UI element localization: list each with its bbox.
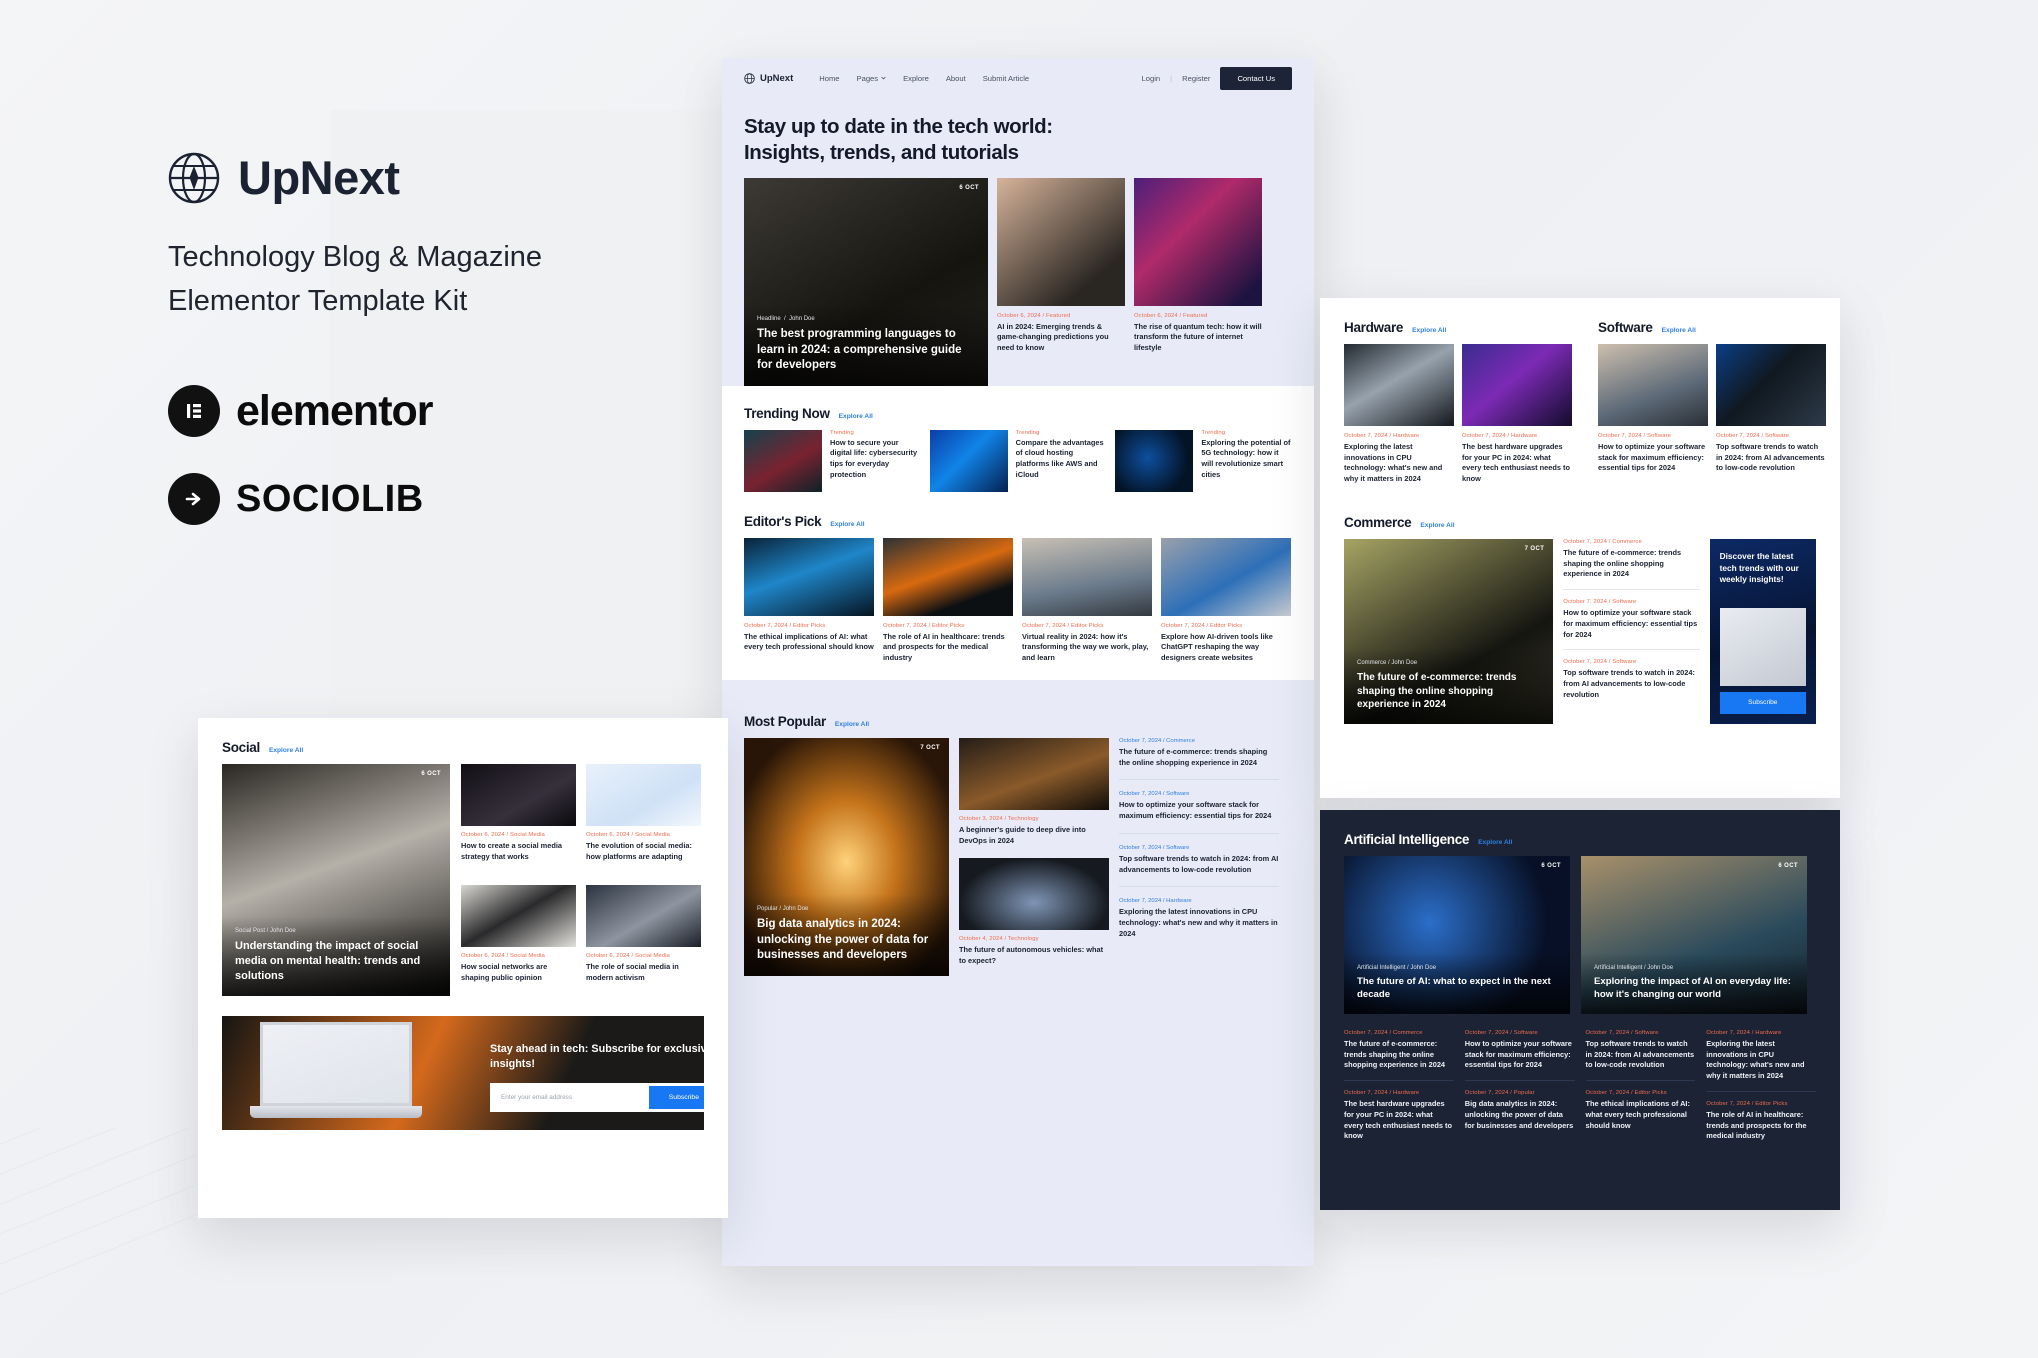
brand-logo-row: UpNext [168, 150, 688, 205]
article-meta: October 6, 2024 / Social Media [586, 953, 701, 959]
contact-us-button[interactable]: Contact Us [1220, 67, 1292, 90]
ai-list-column: October 7, 2024 / Software How to optimi… [1465, 1030, 1575, 1160]
ai-feature-card[interactable]: 6 OCT Artificial Intelligent / John Doe … [1344, 856, 1570, 1014]
site-navbar: UpNext Home Pages Explore About Submit A… [722, 58, 1314, 98]
article-category: Software [1634, 1030, 1658, 1036]
article-thumbnail [1716, 344, 1826, 426]
navbar-actions: Login | Register Contact Us [1142, 67, 1292, 90]
commerce-list: October 7, 2024 / Commerce The future of… [1563, 539, 1699, 724]
elementor-wordmark: elementor [236, 387, 433, 436]
newsletter-email-input[interactable]: Enter your email address [493, 1086, 649, 1109]
article-date: October 6, 2024 [461, 953, 505, 959]
feature-author: John Doe [1647, 965, 1673, 971]
nav-item-about[interactable]: About [946, 74, 966, 83]
article-meta: October 7, 2024 / Hardware [1119, 898, 1279, 904]
list-item[interactable]: October 7, 2024 / Commerce The future of… [1344, 1030, 1454, 1081]
article-date: October 7, 2024 [1119, 898, 1161, 904]
article-meta: October 7, 2024 / Software [1563, 659, 1699, 665]
hero-category: Headline [757, 316, 781, 322]
article-thumbnail [883, 538, 1013, 616]
feature-overlay: Social Post / John Doe Understanding the… [222, 916, 450, 996]
software-title: Software [1598, 320, 1653, 335]
navbar-logo-text: UpNext [760, 73, 793, 84]
article-date: October 6, 2024 [586, 953, 630, 959]
article-title: How to optimize your software stack for … [1598, 442, 1708, 474]
article-card[interactable]: October 7, 2024 / Hardware Exploring the… [1344, 344, 1454, 485]
article-meta: October 7, 2024 / Commerce [1119, 738, 1279, 744]
article-category: Software [1166, 791, 1189, 797]
article-meta: October 7, 2024 / Software [1716, 433, 1826, 439]
brand-name: UpNext [238, 150, 400, 205]
article-date: October 7, 2024 [1563, 659, 1607, 665]
editors-pick-item[interactable]: October 7, 2024 / Editor Picks The role … [883, 538, 1013, 664]
list-item[interactable]: October 4, 2024 / Technology The future … [959, 858, 1109, 966]
article-title: The best hardware upgrades for your PC i… [1344, 1099, 1454, 1142]
hero-featured-card[interactable]: 6 OCT Headline / John Doe The best progr… [744, 178, 988, 386]
commerce-explore-all[interactable]: Explore All [1420, 522, 1454, 529]
article-category: Popular [1514, 1090, 1535, 1096]
article-meta: October 6, 2024 / Featured [997, 313, 1125, 319]
article-thumbnail [959, 738, 1109, 810]
article-category: Hardware [1166, 898, 1192, 904]
list-item[interactable]: October 3, 2024 / Technology A beginner'… [959, 738, 1109, 846]
artificial-intelligence-panel: Artificial Intelligence Explore All 6 OC… [1320, 810, 1840, 1210]
list-item[interactable]: October 7, 2024 / Commerce The future of… [1563, 539, 1699, 590]
article-date: October 7, 2024 [1563, 539, 1607, 545]
article-thumbnail [586, 885, 701, 947]
list-item[interactable]: October 7, 2024 / Popular Big data analy… [1465, 1090, 1575, 1140]
hero-card-grid: 6 OCT Headline / John Doe The best progr… [722, 178, 1314, 386]
article-category: Hardware [1755, 1030, 1781, 1036]
newsletter-form: Enter your email address Subscribe [490, 1083, 704, 1112]
newsletter-content: Stay ahead in tech: Subscribe for exclus… [490, 1042, 704, 1112]
trending-item[interactable]: Trending Exploring the potential of 5G t… [1115, 430, 1292, 492]
article-date: October 7, 2024 [1344, 1030, 1388, 1036]
article-title: How to create a social media strategy th… [461, 841, 576, 862]
hero-side-card[interactable]: October 6, 2024 / Featured AI in 2024: E… [997, 178, 1125, 386]
navbar-links: Home Pages Explore About Submit Article [819, 74, 1029, 83]
article-category: Commerce [1612, 539, 1642, 545]
feature-author: John Doe [783, 906, 809, 912]
elementor-logo: elementor [168, 385, 688, 437]
article-category: Commerce [1393, 1030, 1423, 1036]
article-category: Featured [1046, 313, 1070, 319]
article-category: Software [1166, 845, 1189, 851]
software-section-header: Software Explore All [1598, 320, 1826, 335]
most-popular-right-column: October 7, 2024 / Commerce The future of… [1119, 738, 1279, 979]
chevron-down-icon [881, 76, 886, 80]
feature-date-tag: 7 OCT [1525, 546, 1545, 552]
article-meta: October 4, 2024 / Technology [959, 936, 1109, 942]
article-date: October 7, 2024 [1465, 1030, 1509, 1036]
article-title: Top software trends to watch in 2024: fr… [1586, 1039, 1696, 1071]
list-item[interactable]: October 7, 2024 / Hardware The best hard… [1344, 1090, 1454, 1151]
promo-title: Discover the latest tech trends with our… [1720, 551, 1806, 586]
article-category: Social Media [510, 832, 545, 838]
article-meta: October 3, 2024 / Technology [959, 816, 1109, 822]
article-title: How to optimize your software stack for … [1465, 1039, 1575, 1071]
ai-article-list: October 7, 2024 / Commerce The future of… [1344, 1030, 1816, 1160]
trending-text: Trending How to secure your digital life… [830, 430, 921, 492]
hero-headline: The best programming languages to learn … [757, 327, 975, 374]
article-card[interactable]: October 6, 2024 / Social Media The evolu… [586, 764, 701, 875]
article-category: Editor Picks [1634, 1090, 1666, 1096]
article-date: October 7, 2024 [1119, 845, 1161, 851]
promo-subscribe-widget: Discover the latest tech trends with our… [1710, 539, 1816, 724]
software-explore-all[interactable]: Explore All [1662, 327, 1696, 334]
article-title: The ethical implications of AI: what eve… [744, 632, 874, 653]
article-title: A beginner's guide to deep dive into Dev… [959, 825, 1109, 846]
article-meta: October 6, 2024 / Social Media [586, 832, 701, 838]
article-thumbnail [744, 430, 822, 492]
promo-subscribe-button[interactable]: Subscribe [1720, 692, 1806, 714]
article-thumbnail [1115, 430, 1193, 492]
nav-item-home[interactable]: Home [819, 74, 839, 83]
article-category: Software [1612, 599, 1636, 605]
article-category: Hardware [1393, 433, 1419, 439]
article-category: Editor Picks [793, 623, 825, 629]
hardware-software-row: Hardware Explore All October 7, 2024 / H… [1344, 320, 1816, 485]
globe-icon [168, 152, 220, 204]
article-category: Editor Picks [932, 623, 964, 629]
article-meta: October 7, 2024 / Software [1465, 1030, 1575, 1036]
article-card[interactable]: October 7, 2024 / Software How to optimi… [1598, 344, 1708, 474]
feature-author: John Doe [1410, 965, 1436, 971]
trending-item[interactable]: Trending Compare the advantages of cloud… [930, 430, 1107, 492]
article-meta: October 7, 2024 / Software [1563, 599, 1699, 605]
article-title: Explore how AI-driven tools like ChatGPT… [1161, 632, 1291, 664]
list-item[interactable]: October 7, 2024 / Commerce The future of… [1119, 738, 1279, 780]
list-item[interactable]: October 7, 2024 / Hardware Exploring the… [1706, 1030, 1816, 1092]
list-item[interactable]: October 7, 2024 / Hardware Exploring the… [1119, 898, 1279, 950]
article-title: Exploring the latest innovations in CPU … [1119, 907, 1279, 939]
article-title: Top software trends to watch in 2024: fr… [1119, 854, 1279, 875]
newsletter-banner: Stay ahead in tech: Subscribe for exclus… [222, 1016, 704, 1130]
article-category: Social Media [635, 832, 670, 838]
most-popular-title: Most Popular [744, 714, 826, 729]
article-meta: October 6, 2024 / Social Media [461, 953, 576, 959]
hardware-section-header: Hardware Explore All [1344, 320, 1572, 335]
article-title: How to secure your digital life: cyberse… [830, 438, 921, 481]
article-title: How to optimize your software stack for … [1563, 608, 1699, 640]
article-meta: October 7, 2024 / Editor Picks [1586, 1090, 1696, 1096]
article-date: October 7, 2024 [1022, 623, 1066, 629]
article-card[interactable]: October 7, 2024 / Hardware The best hard… [1462, 344, 1572, 485]
brand-tagline-line1: Technology Blog & Magazine [168, 235, 688, 279]
commerce-title: Commerce [1344, 515, 1411, 530]
article-meta: October 7, 2024 / Commerce [1563, 539, 1699, 545]
article-date: October 7, 2024 [1161, 623, 1205, 629]
login-link[interactable]: Login [1142, 74, 1161, 83]
feature-headline: The future of e-commerce: trends shaping… [1357, 671, 1540, 712]
article-title: The future of e-commerce: trends shaping… [1344, 1039, 1454, 1071]
article-date: October 7, 2024 [1465, 1090, 1509, 1096]
article-card[interactable]: October 6, 2024 / Social Media How to cr… [461, 764, 576, 875]
most-popular-section-header: Most Popular Explore All [744, 714, 1292, 729]
article-date: October 7, 2024 [1706, 1030, 1750, 1036]
article-meta: October 6, 2024 / Featured [1134, 313, 1262, 319]
laptop-base [250, 1106, 422, 1118]
article-category: Trending [830, 430, 921, 436]
trending-section-header: Trending Now Explore All [744, 406, 1292, 421]
feature-headline: Exploring the impact of AI on everyday l… [1594, 976, 1794, 1002]
nav-item-pages-label: Pages [857, 74, 879, 83]
article-date: October 7, 2024 [1119, 738, 1161, 744]
article-meta: October 6, 2024 / Social Media [461, 832, 576, 838]
social-section-header: Social Explore All [222, 740, 704, 755]
article-title: The rise of quantum tech: how it will tr… [1134, 322, 1262, 354]
elementor-icon [168, 385, 220, 437]
globe-icon [744, 73, 755, 84]
social-feature-card[interactable]: 6 OCT Social Post / John Doe Understandi… [222, 764, 450, 996]
editors-pick-item[interactable]: October 7, 2024 / Editor Picks The ethic… [744, 538, 874, 664]
article-title: Big data analytics in 2024: unlocking th… [1465, 1099, 1575, 1131]
article-meta: October 7, 2024 / Editor Picks [883, 623, 1013, 629]
feature-category: Artificial Intelligent [1594, 965, 1642, 971]
list-item[interactable]: October 7, 2024 / Software How to optimi… [1563, 599, 1699, 650]
article-category: Editor Picks [1071, 623, 1103, 629]
list-item[interactable]: October 7, 2024 / Editor Picks The ethic… [1586, 1090, 1696, 1140]
social-explore-all[interactable]: Explore All [269, 747, 303, 754]
article-category: Editor Picks [1210, 623, 1242, 629]
article-date: October 7, 2024 [1344, 1090, 1388, 1096]
trending-explore-all[interactable]: Explore All [839, 413, 873, 420]
feature-meta: Social Post / John Doe [235, 928, 437, 934]
editors-pick-item[interactable]: October 7, 2024 / Editor Picks Explore h… [1161, 538, 1291, 664]
feature-category: Commerce [1357, 660, 1386, 666]
article-date: October 7, 2024 [1462, 433, 1506, 439]
feature-meta: Popular / John Doe [757, 906, 936, 912]
article-title: The best hardware upgrades for your PC i… [1462, 442, 1572, 485]
article-date: October 3, 2024 [959, 816, 1003, 822]
list-item[interactable]: October 7, 2024 / Editor Picks The role … [1706, 1101, 1816, 1151]
nav-item-pages[interactable]: Pages [857, 74, 887, 83]
article-category: Technology [1008, 936, 1039, 942]
article-thumbnail [461, 764, 576, 826]
article-date: October 4, 2024 [959, 936, 1003, 942]
article-date: October 7, 2024 [1119, 791, 1161, 797]
article-meta: October 7, 2024 / Hardware [1344, 433, 1454, 439]
article-meta: October 7, 2024 / Editor Picks [1706, 1101, 1816, 1107]
article-meta: October 7, 2024 / Software [1119, 845, 1279, 851]
feature-date-tag: 6 OCT [1778, 863, 1798, 869]
feature-category: Popular [757, 906, 778, 912]
article-meta: October 7, 2024 / Editor Picks [1161, 623, 1291, 629]
article-card[interactable]: October 7, 2024 / Software Top software … [1716, 344, 1826, 474]
hero-side-card[interactable]: October 6, 2024 / Featured The rise of q… [1134, 178, 1262, 386]
feature-date-tag: 6 OCT [421, 771, 441, 777]
article-meta: October 7, 2024 / Hardware [1344, 1090, 1454, 1096]
article-thumbnail [997, 178, 1125, 306]
article-thumbnail [1462, 344, 1572, 426]
editors-pick-explore-all[interactable]: Explore All [830, 521, 864, 528]
article-title: Exploring the latest innovations in CPU … [1706, 1039, 1816, 1082]
ai-title: Artificial Intelligence [1344, 832, 1469, 847]
most-popular-middle-column: October 3, 2024 / Technology A beginner'… [959, 738, 1109, 979]
hardware-explore-all[interactable]: Explore All [1412, 327, 1446, 334]
article-date: October 6, 2024 [586, 832, 630, 838]
article-meta: October 7, 2024 / Software [1598, 433, 1708, 439]
navbar-logo[interactable]: UpNext [744, 73, 793, 84]
feature-overlay: Artificial Intelligent / John Doe Explor… [1581, 953, 1807, 1014]
article-title: The future of e-commerce: trends shaping… [1119, 747, 1279, 768]
editors-pick-title: Editor's Pick [744, 514, 821, 529]
trending-grid: Trending How to secure your digital life… [744, 430, 1292, 492]
hero-title-line2: Insights, trends, and tutorials [744, 140, 1292, 166]
hero-author: John Doe [789, 316, 815, 322]
newsletter-subscribe-button[interactable]: Subscribe [649, 1086, 704, 1109]
article-meta: October 7, 2024 / Software [1119, 791, 1279, 797]
feature-headline: Big data analytics in 2024: unlocking th… [757, 917, 936, 964]
article-category: Social Media [510, 953, 545, 959]
article-title: The role of AI in healthcare: trends and… [883, 632, 1013, 664]
list-item[interactable]: October 7, 2024 / Software How to optimi… [1465, 1030, 1575, 1081]
article-date: October 7, 2024 [1563, 599, 1607, 605]
nav-item-explore[interactable]: Explore [903, 74, 929, 83]
article-thumbnail [461, 885, 576, 947]
article-category: Social Media [635, 953, 670, 959]
article-category: Editor Picks [1755, 1101, 1787, 1107]
article-thumbnail [959, 858, 1109, 930]
ai-feature-card[interactable]: 6 OCT Artificial Intelligent / John Doe … [1581, 856, 1807, 1014]
article-category: Trending [1016, 430, 1107, 436]
social-grid: 6 OCT Social Post / John Doe Understandi… [222, 764, 704, 996]
main-content-body: Trending Now Explore All Trending How to… [722, 386, 1314, 680]
ai-list-column: October 7, 2024 / Software Top software … [1586, 1030, 1696, 1160]
feature-meta: Artificial Intelligent / John Doe [1357, 965, 1557, 971]
trending-text: Trending Compare the advantages of cloud… [1016, 430, 1107, 492]
article-category: Commerce [1166, 738, 1195, 744]
feature-overlay: Commerce / John Doe The future of e-comm… [1344, 648, 1553, 724]
most-popular-explore-all[interactable]: Explore All [835, 721, 869, 728]
article-thumbnail [1134, 178, 1262, 306]
article-thumbnail [930, 430, 1008, 492]
article-category: Hardware [1393, 1090, 1419, 1096]
article-category: Hardware [1511, 433, 1537, 439]
ai-card-row: 6 OCT Artificial Intelligent / John Doe … [1344, 856, 1816, 1014]
commerce-feature-card[interactable]: 7 OCT Commerce / John Doe The future of … [1344, 539, 1553, 724]
register-link[interactable]: Register [1182, 74, 1210, 83]
nav-item-submit-article[interactable]: Submit Article [983, 74, 1029, 83]
feature-author: John Doe [270, 928, 296, 934]
article-date: October 7, 2024 [744, 623, 788, 629]
article-title: The role of social media in modern activ… [586, 962, 701, 983]
laptop-mockup-image [250, 1022, 422, 1126]
article-meta: October 7, 2024 / Commerce [1344, 1030, 1454, 1036]
editors-pick-item[interactable]: October 7, 2024 / Editor Picks Virtual r… [1022, 538, 1152, 664]
article-title: AI in 2024: Emerging trends & game-chang… [997, 322, 1125, 354]
hero-date-tag: 6 OCT [959, 185, 979, 191]
article-date: October 7, 2024 [1586, 1030, 1630, 1036]
feature-headline: Understanding the impact of social media… [235, 939, 437, 984]
article-category: Software [1514, 1030, 1538, 1036]
newsletter-title: Stay ahead in tech: Subscribe for exclus… [490, 1042, 704, 1072]
article-title: The ethical implications of AI: what eve… [1586, 1099, 1696, 1131]
feature-meta: Artificial Intelligent / John Doe [1594, 965, 1794, 971]
social-title: Social [222, 740, 260, 755]
social-preview-panel: Social Explore All 6 OCT Social Post / J… [198, 718, 728, 1218]
list-item[interactable]: October 7, 2024 / Software Top software … [1563, 659, 1699, 709]
article-title: Exploring the potential of 5G technology… [1201, 438, 1292, 481]
article-title: The role of AI in healthcare: trends and… [1706, 1110, 1816, 1142]
most-popular-grid: 7 OCT Popular / John Doe Big data analyt… [744, 738, 1292, 979]
trending-title: Trending Now [744, 406, 830, 421]
article-title: The evolution of social media: how platf… [586, 841, 701, 862]
article-meta: October 7, 2024 / Editor Picks [744, 623, 874, 629]
article-date: October 6, 2024 [461, 832, 505, 838]
article-thumbnail [1598, 344, 1708, 426]
feature-meta: Commerce / John Doe [1357, 660, 1540, 666]
article-card[interactable]: October 6, 2024 / Social Media The role … [586, 885, 701, 996]
article-category: Software [1612, 659, 1636, 665]
software-grid: October 7, 2024 / Software How to optimi… [1598, 344, 1826, 474]
article-meta: October 7, 2024 / Software [1586, 1030, 1696, 1036]
feature-headline: The future of AI: what to expect in the … [1357, 976, 1557, 1002]
nav-divider: | [1170, 74, 1172, 83]
article-date: October 7, 2024 [1344, 433, 1388, 439]
list-item[interactable]: October 7, 2024 / Software Top software … [1119, 845, 1279, 887]
list-item[interactable]: October 7, 2024 / Software Top software … [1586, 1030, 1696, 1081]
hero-meta: Headline / John Doe [757, 316, 975, 322]
brand-tagline-line2: Elementor Template Kit [168, 279, 688, 323]
brand-block: UpNext Technology Blog & Magazine Elemen… [168, 150, 688, 525]
social-card-grid: October 6, 2024 / Social Media How to cr… [461, 764, 701, 996]
article-card[interactable]: October 6, 2024 / Social Media How socia… [461, 885, 576, 996]
article-thumbnail [1161, 538, 1291, 616]
hero-title: Stay up to date in the tech world: Insig… [722, 98, 1314, 178]
hero-overlay: Headline / John Doe The best programming… [744, 304, 988, 386]
article-date: October 7, 2024 [1716, 433, 1760, 439]
article-title: Compare the advantages of cloud hosting … [1016, 438, 1107, 481]
ai-explore-all[interactable]: Explore All [1478, 839, 1512, 846]
laptop-screen [260, 1022, 412, 1106]
article-date: October 7, 2024 [1598, 433, 1642, 439]
category-preview-panel: Hardware Explore All October 7, 2024 / H… [1320, 298, 1840, 798]
feature-overlay: Artificial Intelligent / John Doe The fu… [1344, 953, 1570, 1014]
article-date: October 6, 2024 [997, 313, 1041, 319]
hero-title-line1: Stay up to date in the tech world: [744, 114, 1292, 140]
article-title: The future of e-commerce: trends shaping… [1563, 548, 1699, 580]
editors-pick-grid: October 7, 2024 / Editor Picks The ethic… [744, 538, 1292, 664]
trending-item[interactable]: Trending How to secure your digital life… [744, 430, 921, 492]
ai-section-header: Artificial Intelligence Explore All [1344, 832, 1816, 847]
feature-date-tag: 6 OCT [1541, 863, 1561, 869]
feature-date-tag: 7 OCT [920, 745, 940, 751]
article-thumbnail [1022, 538, 1152, 616]
promo-screenshot [1720, 608, 1806, 686]
sociolib-logo: SOCIOLIB [168, 473, 688, 525]
article-title: Top software trends to watch in 2024: fr… [1563, 668, 1699, 700]
brand-tagline: Technology Blog & Magazine Elementor Tem… [168, 235, 688, 323]
article-title: Top software trends to watch in 2024: fr… [1716, 442, 1826, 474]
feature-overlay: Popular / John Doe Big data analytics in… [744, 894, 949, 976]
article-meta: October 7, 2024 / Hardware [1462, 433, 1572, 439]
hardware-section: Hardware Explore All October 7, 2024 / H… [1344, 320, 1572, 485]
homepage-preview-panel: UpNext Home Pages Explore About Submit A… [722, 58, 1314, 1266]
article-thumbnail [744, 538, 874, 616]
trending-text: Trending Exploring the potential of 5G t… [1201, 430, 1292, 492]
article-date: October 7, 2024 [1586, 1090, 1630, 1096]
list-item[interactable]: October 7, 2024 / Software How to optimi… [1119, 791, 1279, 833]
article-title: The future of autonomous vehicles: what … [959, 945, 1109, 966]
article-meta: October 7, 2024 / Hardware [1706, 1030, 1816, 1036]
article-category: Featured [1183, 313, 1207, 319]
article-title: Virtual reality in 2024: how it's transf… [1022, 632, 1152, 664]
most-popular-feature-card[interactable]: 7 OCT Popular / John Doe Big data analyt… [744, 738, 949, 976]
article-date: October 7, 2024 [1706, 1101, 1750, 1107]
most-popular-section: Most Popular Explore All 7 OCT Popular /… [722, 698, 1314, 999]
article-category: Trending [1201, 430, 1292, 436]
